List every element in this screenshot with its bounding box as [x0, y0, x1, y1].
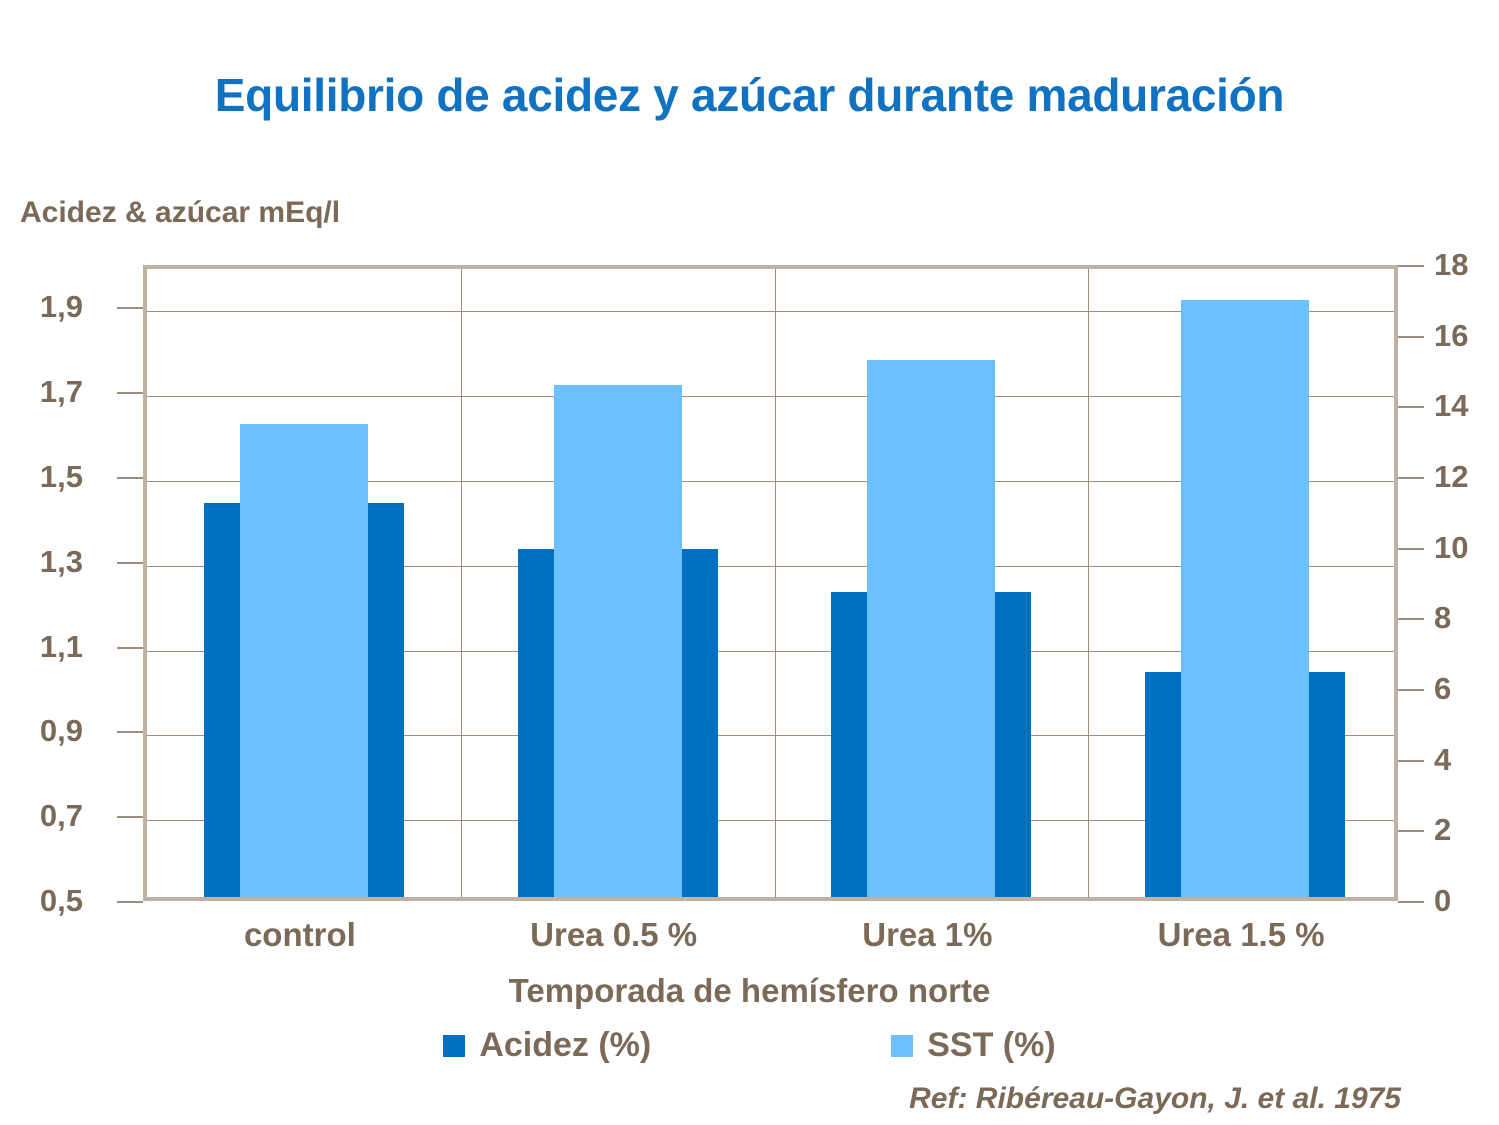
- square-marker-icon: [443, 1035, 465, 1057]
- right-axis-tick-mark: [1398, 618, 1424, 620]
- left-axis-tick-label: 1,9: [0, 289, 83, 325]
- right-axis-tick-label: 10: [1434, 530, 1494, 566]
- legend-label: SST (%): [927, 1026, 1055, 1065]
- chart-legend: Acidez (%)SST (%): [0, 1026, 1499, 1065]
- right-axis-tick-label: 18: [1434, 247, 1494, 283]
- right-axis-tick-label: 6: [1434, 671, 1494, 707]
- right-axis-tick-mark: [1398, 830, 1424, 832]
- left-axis-tick-mark: [117, 816, 143, 818]
- right-axis-tick-label: 16: [1434, 318, 1494, 354]
- square-marker-icon: [891, 1035, 913, 1057]
- left-axis-tick-mark: [117, 477, 143, 479]
- category-separator: [775, 269, 776, 897]
- category-separator: [461, 269, 462, 897]
- left-axis-tick-label: 0,7: [0, 798, 83, 834]
- right-axis-tick-label: 12: [1434, 459, 1494, 495]
- right-axis-tick-mark: [1398, 548, 1424, 550]
- legend-label: Acidez (%): [479, 1026, 651, 1065]
- left-axis-tick-mark: [117, 392, 143, 394]
- right-axis-tick-mark: [1398, 901, 1424, 903]
- plot-area: [143, 265, 1398, 901]
- right-axis-tick-mark: [1398, 477, 1424, 479]
- bar-sst: [240, 424, 368, 897]
- right-axis-tick-mark: [1398, 265, 1424, 267]
- left-axis-tick-mark: [117, 901, 143, 903]
- left-axis-tick-mark: [117, 307, 143, 309]
- left-axis-tick-label: 1,3: [0, 544, 83, 580]
- right-axis-tick-label: 8: [1434, 600, 1494, 636]
- x-axis-tick-label: control: [143, 916, 457, 954]
- legend-item[interactable]: Acidez (%): [443, 1026, 651, 1065]
- bar-sst: [554, 385, 682, 897]
- page-title: Equilibrio de acidez y azúcar durante ma…: [0, 68, 1499, 122]
- right-axis-tick-mark: [1398, 689, 1424, 691]
- x-axis-title: Temporada de hemísfero norte: [0, 972, 1499, 1010]
- y-axis-title: Acidez & azúcar mEq/l: [20, 196, 340, 230]
- right-axis-tick-label: 4: [1434, 742, 1494, 778]
- left-axis-tick-label: 1,7: [0, 374, 83, 410]
- right-axis-tick-label: 2: [1434, 812, 1494, 848]
- left-axis-tick-label: 1,1: [0, 629, 83, 665]
- x-axis-tick-label: Urea 0.5 %: [457, 916, 771, 954]
- right-axis-tick-mark: [1398, 760, 1424, 762]
- left-axis-tick-label: 1,5: [0, 459, 83, 495]
- right-axis-tick-label: 0: [1434, 883, 1494, 919]
- left-axis-tick-mark: [117, 647, 143, 649]
- left-axis-tick-mark: [117, 562, 143, 564]
- bar-sst: [1181, 300, 1309, 897]
- left-axis-tick-label: 0,9: [0, 713, 83, 749]
- right-axis-tick-mark: [1398, 336, 1424, 338]
- left-axis-tick-mark: [117, 731, 143, 733]
- left-axis-tick-label: 0,5: [0, 883, 83, 919]
- right-axis-tick-mark: [1398, 406, 1424, 408]
- x-axis-tick-label: Urea 1.5 %: [1084, 916, 1398, 954]
- bar-sst: [867, 360, 995, 897]
- right-axis-tick-label: 14: [1434, 388, 1494, 424]
- x-axis-tick-label: Urea 1%: [771, 916, 1085, 954]
- legend-item[interactable]: SST (%): [891, 1026, 1055, 1065]
- reference-note: Ref: Ribéreau-Gayon, J. et al. 1975: [909, 1082, 1401, 1116]
- category-separator: [1088, 269, 1089, 897]
